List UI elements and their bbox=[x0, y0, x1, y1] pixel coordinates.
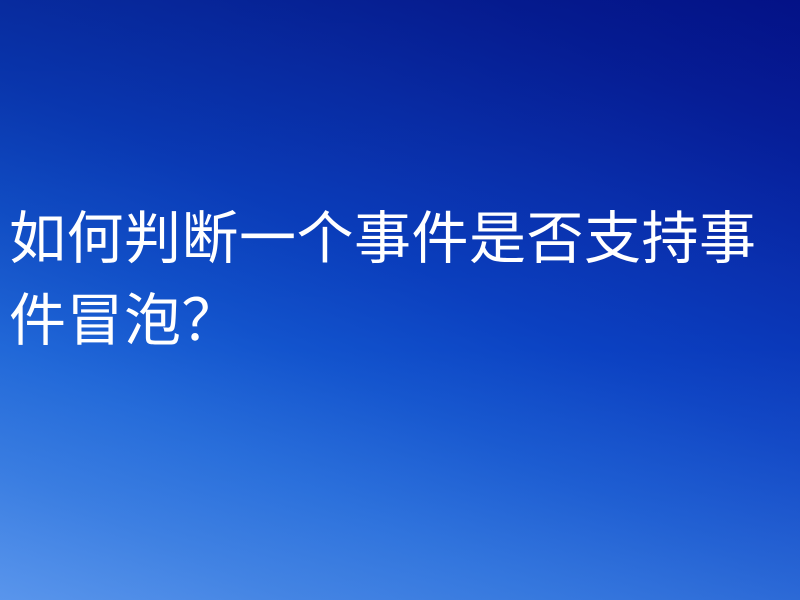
page-title: 如何判断一个事件是否支持事件冒泡？ bbox=[9, 198, 799, 362]
question-banner-card: 如何判断一个事件是否支持事件冒泡？ bbox=[0, 0, 800, 600]
